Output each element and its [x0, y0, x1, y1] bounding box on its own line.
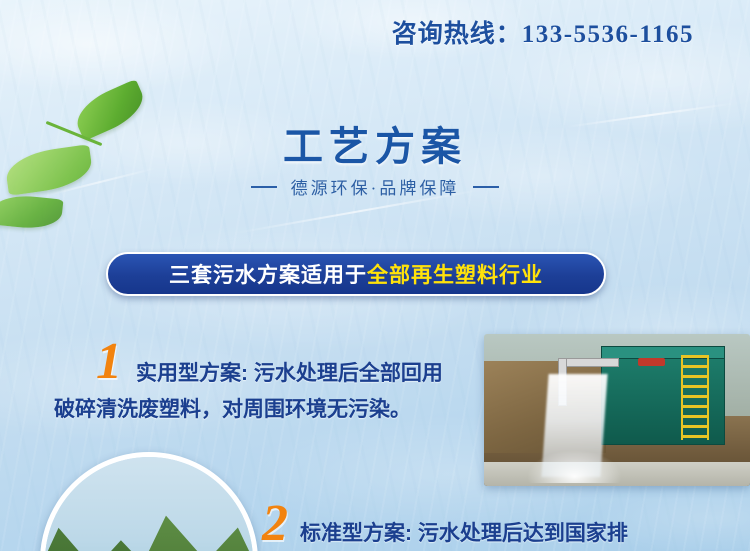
item-text-1-line1: 实用型方案: 污水处理后全部回用	[136, 356, 443, 392]
item-1-label: 实用型方案:	[136, 362, 248, 385]
poster-root: 咨询热线：133-5536-1165 工艺方案 德源环保·品牌保障 三套污水方案…	[0, 0, 750, 551]
subtitle-dash-right	[473, 186, 499, 188]
wastewater-treatment-tank-photo	[484, 334, 750, 486]
item-2-label: 标准型方案:	[300, 522, 412, 545]
photo1-pipe-horizontal	[558, 358, 619, 367]
photo1-red-valve	[638, 358, 665, 366]
photo1-water-splash	[527, 450, 623, 483]
banner-text-prefix: 三套污水方案适用于	[169, 264, 367, 287]
banner-text-highlight: 全部再生塑料行业	[367, 264, 543, 287]
item-1-line1-rest: 污水处理后全部回用	[248, 362, 443, 385]
photo2-sky	[45, 457, 253, 551]
item-2-line1-rest: 污水处理后达到国家排	[412, 522, 628, 545]
hotline-number: 133-5536-1165	[522, 21, 694, 48]
item-text-2-line1: 标准型方案: 污水处理后达到国家排	[300, 516, 628, 551]
hotline: 咨询热线：133-5536-1165	[392, 14, 694, 50]
item-number-2: 2	[262, 498, 288, 550]
item-text-1-line2: 破碎清洗废塑料，对周围环境无污染。	[54, 392, 411, 428]
highlight-banner-text: 三套污水方案适用于全部再生塑料行业	[169, 259, 543, 289]
green-mountain-lake-photo	[40, 452, 258, 551]
photo1-yellow-ladder	[681, 355, 709, 440]
subtitle-row: 德源环保·品牌保障	[0, 174, 750, 199]
highlight-banner: 三套污水方案适用于全部再生塑料行业	[106, 252, 606, 296]
subtitle-dash-left	[251, 186, 277, 188]
subtitle-text: 德源环保·品牌保障	[291, 174, 460, 199]
hotline-label: 咨询热线：	[392, 21, 522, 48]
page-title: 工艺方案	[0, 114, 750, 172]
item-number-1: 1	[96, 336, 122, 388]
